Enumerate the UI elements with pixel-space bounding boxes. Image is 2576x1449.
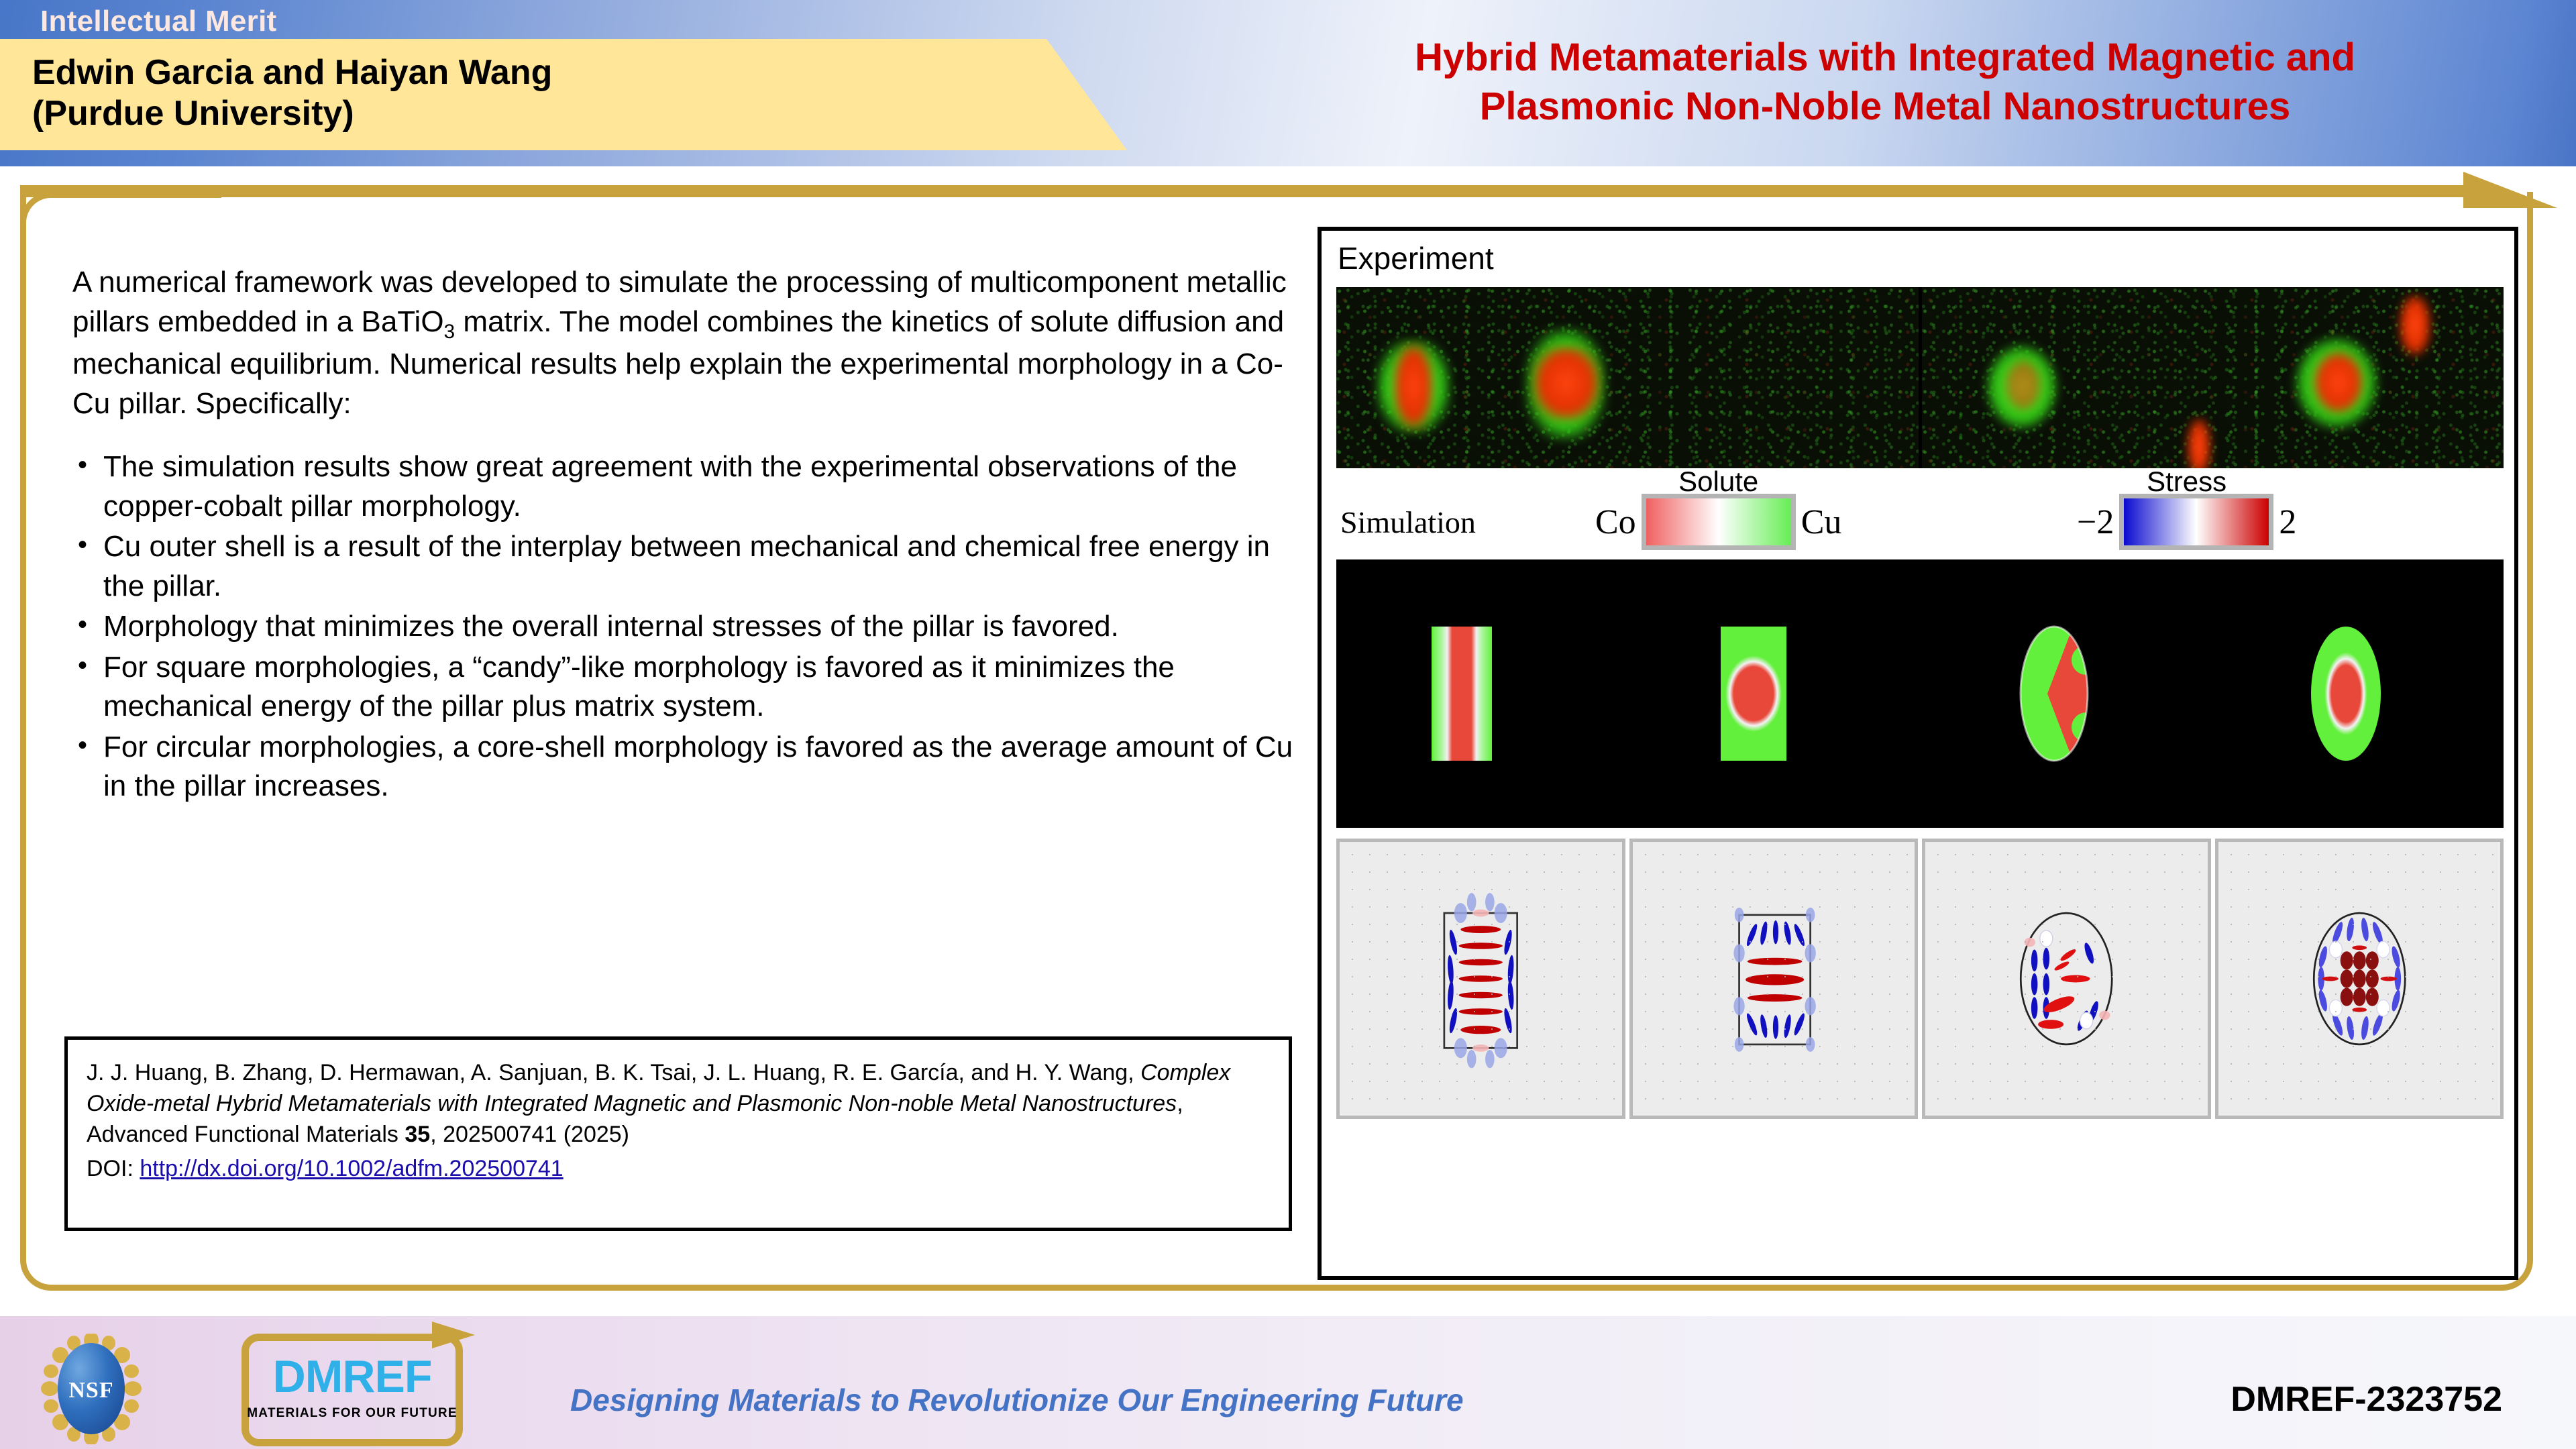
sim-circle-tilted bbox=[1920, 559, 2212, 828]
solute-colorbar-group: Solute Co Cu bbox=[1595, 494, 1841, 550]
stress-circle-tilted bbox=[1922, 839, 2211, 1119]
left-content-column: A numerical framework was developed to s… bbox=[72, 263, 1300, 808]
stray-red-speck bbox=[2188, 419, 2210, 468]
pillar-core-red bbox=[1534, 346, 1599, 420]
doi-label: DOI: bbox=[87, 1156, 140, 1181]
doi-line: DOI: http://dx.doi.org/10.1002/adfm.2025… bbox=[87, 1153, 1270, 1184]
solute-min-label: Co bbox=[1595, 502, 1636, 542]
simulation-label: Simulation bbox=[1340, 504, 1476, 540]
title-line-2: Plasmonic Non-Noble Metal Nanostructures bbox=[1248, 83, 2522, 131]
background-dot-grid bbox=[1925, 842, 2208, 1116]
figure-panel: Experiment Si bbox=[1318, 227, 2518, 1280]
sim-square-core-svg bbox=[1628, 559, 1920, 828]
dmref-logo: DMREF MATERIALS FOR OUR FUTURE bbox=[241, 1334, 463, 1446]
experiment-micrograph-circle bbox=[1922, 287, 2504, 468]
stress-circle-coreshell bbox=[2215, 839, 2504, 1119]
nsf-logo: NSF bbox=[40, 1334, 142, 1444]
stress-min-label: −2 bbox=[2077, 502, 2114, 542]
solute-colorbar-title: Solute bbox=[1595, 466, 1841, 498]
list-item: The simulation results show great agreem… bbox=[72, 447, 1300, 526]
intellectual-merit-label: Intellectual Merit bbox=[40, 7, 277, 36]
authors-block: Edwin Garcia and Haiyan Wang (Purdue Uni… bbox=[32, 52, 552, 135]
list-item: Morphology that minimizes the overall in… bbox=[72, 607, 1300, 647]
authors-line-1: Edwin Garcia and Haiyan Wang bbox=[32, 52, 552, 93]
list-item: For circular morphologies, a core-shell … bbox=[72, 728, 1300, 806]
citation-box: J. J. Huang, B. Zhang, D. Hermawan, A. S… bbox=[64, 1036, 1292, 1231]
list-item: Cu outer shell is a result of the interp… bbox=[72, 527, 1300, 606]
nsf-wordmark: NSF bbox=[40, 1378, 142, 1403]
citation-authors: J. J. Huang, B. Zhang, D. Hermawan, A. S… bbox=[87, 1060, 1140, 1085]
sim-circle-tilted-svg bbox=[1920, 559, 2212, 828]
chemical-subscript: 3 bbox=[444, 320, 455, 342]
experiment-label: Experiment bbox=[1338, 240, 1494, 276]
page-title: Hybrid Metamaterials with Integrated Mag… bbox=[1248, 34, 2522, 131]
pillar-core-red bbox=[2005, 360, 2041, 411]
stress-max-label: 2 bbox=[2279, 502, 2296, 542]
experiment-micrograph-square bbox=[1336, 287, 1919, 468]
sim-circle-coreshell-svg bbox=[2212, 559, 2504, 828]
sim-circle-coreshell bbox=[2212, 559, 2504, 828]
doi-link[interactable]: http://dx.doi.org/10.1002/adfm.202500741 bbox=[140, 1156, 563, 1181]
stray-red-speck bbox=[2400, 295, 2430, 356]
stress-colorbar bbox=[2119, 494, 2273, 550]
sim-square-core bbox=[1628, 559, 1920, 828]
stress-colorbar-title: Stress bbox=[2077, 466, 2296, 498]
experiment-image-strip bbox=[1336, 287, 2504, 468]
pillar-core-red bbox=[1394, 345, 1433, 428]
sim-square-candy-svg bbox=[1336, 559, 1628, 828]
award-number: DMREF-2323752 bbox=[2231, 1379, 2502, 1419]
content-frame-corner bbox=[20, 192, 221, 252]
pillar-core-red bbox=[2314, 352, 2363, 413]
poster-slide: Intellectual Merit Edwin Garcia and Haiy… bbox=[0, 0, 2576, 1449]
simulation-morphology-panel bbox=[1336, 559, 2504, 828]
background-dot-grid bbox=[2218, 842, 2501, 1116]
authors-line-2: (Purdue University) bbox=[32, 93, 552, 134]
citation-volume: 35 bbox=[405, 1122, 430, 1147]
background-dot-grid bbox=[1340, 842, 1622, 1116]
solute-max-label: Cu bbox=[1801, 502, 1842, 542]
dmref-tagline: MATERIALS FOR OUR FUTURE bbox=[241, 1406, 463, 1421]
solute-colorbar bbox=[1642, 494, 1796, 550]
sim-square-candy bbox=[1336, 559, 1628, 828]
citation-text: J. J. Huang, B. Zhang, D. Hermawan, A. S… bbox=[87, 1057, 1270, 1150]
list-item: For square morphologies, a “candy”-like … bbox=[72, 648, 1300, 727]
title-line-1: Hybrid Metamaterials with Integrated Mag… bbox=[1248, 34, 2522, 83]
background-dot-grid bbox=[1633, 842, 1915, 1116]
findings-list: The simulation results show great agreem… bbox=[72, 447, 1300, 806]
program-tagline: Designing Materials to Revolutionize Our… bbox=[570, 1382, 1464, 1418]
dmref-wordmark: DMREF bbox=[241, 1354, 463, 1399]
stress-square-core bbox=[1629, 839, 1919, 1119]
stress-tile-row bbox=[1336, 839, 2504, 1119]
stress-square-candy bbox=[1336, 839, 1625, 1119]
stress-colorbar-group: Stress −2 2 bbox=[2077, 494, 2296, 550]
citation-pages-year: , 202500741 (2025) bbox=[430, 1122, 629, 1147]
intro-paragraph: A numerical framework was developed to s… bbox=[72, 263, 1300, 423]
legend-row: Simulation Solute Co Cu Stress −2 2 bbox=[1322, 475, 2514, 553]
